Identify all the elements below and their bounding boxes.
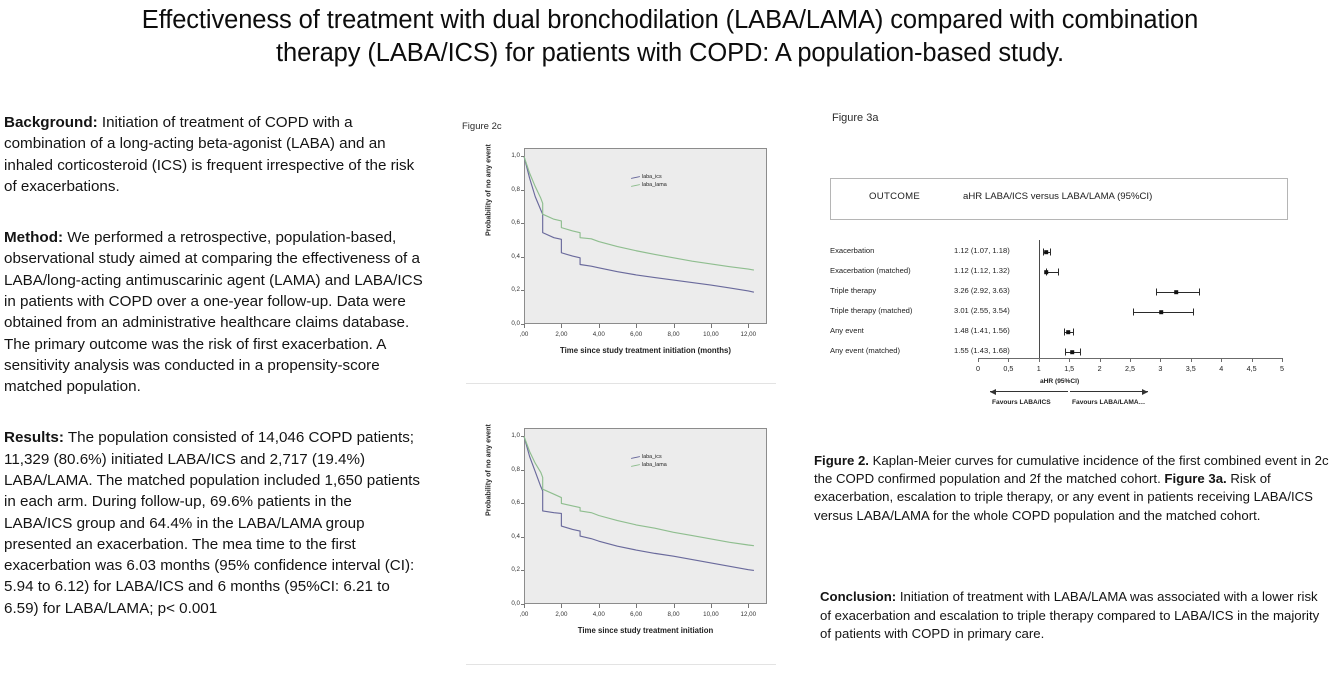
confidence-interval-cap (1080, 349, 1081, 356)
y-tick-mark (521, 190, 524, 191)
confidence-interval-cap (1050, 249, 1051, 256)
forest-row-label: Any event (matched) (830, 346, 950, 355)
forest-favours-left-label: Favours LABA/ICS (992, 399, 1051, 406)
forest-axis-tick-mark (1221, 358, 1222, 362)
forest-axis-tick-label: 1 (1037, 364, 1041, 373)
legend-2f: laba_icslaba_lama (631, 453, 667, 469)
forest-point-estimate-marker (1044, 270, 1048, 274)
forest-axis-tick-label: 4,5 (1247, 364, 1257, 373)
x-tick-mark (561, 604, 562, 608)
x-tick-mark (748, 604, 749, 608)
kaplan-meier-chart-2c: Probability of no any event Time since s… (470, 140, 775, 372)
forest-axis-tick-mark (1252, 358, 1253, 362)
y-tick-mark (521, 156, 524, 157)
method-heading: Method: (4, 229, 63, 246)
figure-2c-label: Figure 2c (462, 121, 502, 132)
x-tick-mark (674, 604, 675, 608)
x-tick-mark (711, 324, 712, 328)
forest-axis-tick-label: 2,5 (1125, 364, 1135, 373)
x-tick-mark (599, 604, 600, 608)
x-tick-mark (636, 604, 637, 608)
forest-axis-tick-mark (1160, 358, 1161, 362)
x-tick-label: 2,00 (555, 611, 567, 618)
background-block: Background: Initiation of treatment of C… (4, 112, 424, 197)
confidence-interval-line (1133, 312, 1193, 313)
x-tick-label: ,00 (520, 331, 529, 338)
results-text: The population consisted of 14,046 COPD … (4, 429, 420, 616)
forest-favours-right-label: Favours LABA/LAMA… (1072, 399, 1145, 406)
x-tick-mark (636, 324, 637, 328)
confidence-interval-cap (1133, 309, 1134, 316)
confidence-interval-cap (1058, 269, 1059, 276)
y-tick-label: 0,0 (502, 600, 520, 607)
forest-point-estimate-marker (1174, 290, 1178, 294)
legend-swatch-icon (631, 463, 640, 467)
confidence-interval-line (1046, 272, 1058, 273)
x-tick-mark (524, 604, 525, 608)
forest-row-label: Exacerbation (830, 246, 950, 255)
results-heading: Results: (4, 429, 64, 446)
x-axis-label-2c: Time since study treatment initiation (m… (524, 346, 767, 355)
forest-axis-tick-mark (1100, 358, 1101, 362)
left-text-column: Background: Initiation of treatment of C… (4, 112, 424, 649)
x-axis-label-2f: Time since study treatment initiation (524, 626, 767, 635)
forest-point-estimate-marker (1159, 310, 1163, 314)
background-heading: Background: (4, 114, 98, 131)
forest-col-header-value: aHR LABA/ICS versus LABA/LAMA (95%CI) (963, 191, 1152, 202)
forest-reference-line (1039, 240, 1040, 358)
forest-point-estimate-marker (1066, 330, 1070, 334)
legend-2c: laba_icslaba_lama (631, 173, 667, 189)
x-tick-label: 12,00 (741, 611, 756, 618)
y-tick-mark (521, 257, 524, 258)
x-tick-label: 2,00 (555, 331, 567, 338)
x-tick-label: 8,00 (668, 611, 680, 618)
y-tick-label: 1,0 (502, 152, 520, 159)
y-tick-mark (521, 570, 524, 571)
forest-axis-tick-label: 0 (976, 364, 980, 373)
forest-axis-tick-mark (1008, 358, 1009, 362)
y-tick-label: 0,4 (502, 533, 520, 540)
y-tick-mark (521, 290, 524, 291)
forest-row-label: Triple therapy (830, 286, 950, 295)
forest-axis-tick-mark (1130, 358, 1131, 362)
confidence-interval-cap (1199, 289, 1200, 296)
legend-item: laba_ics (631, 173, 667, 181)
figure-caption: Figure 2. Kaplan-Meier curves for cumula… (814, 452, 1333, 525)
confidence-interval-cap (1073, 329, 1074, 336)
legend-swatch-icon (631, 455, 640, 459)
forest-axis-tick-label: 3 (1158, 364, 1162, 373)
forest-col-header-outcome: OUTCOME (869, 191, 920, 202)
y-tick-label: 0,2 (502, 566, 520, 573)
forest-point-estimate-marker (1044, 250, 1048, 254)
y-tick-label: 0,2 (502, 286, 520, 293)
conclusion-heading: Conclusion: (820, 589, 896, 604)
forest-row-label: Any event (830, 326, 950, 335)
forest-axis-tick-label: 0,5 (1003, 364, 1013, 373)
method-block: Method: We performed a retrospective, po… (4, 227, 424, 397)
arrow-left-icon (990, 391, 1068, 392)
forest-axis-tick-label: 2 (1098, 364, 1102, 373)
y-tick-label: 0,8 (502, 186, 520, 193)
x-tick-mark (711, 604, 712, 608)
forest-axis-tick-mark (1191, 358, 1192, 362)
x-tick-mark (561, 324, 562, 328)
forest-point-estimate-marker (1070, 350, 1074, 354)
y-tick-mark (521, 537, 524, 538)
forest-row-label: Triple therapy (matched) (830, 306, 950, 315)
forest-axis-tick-mark (978, 358, 979, 362)
forest-axis-tick-label: 5 (1280, 364, 1284, 373)
y-tick-label: 1,0 (502, 432, 520, 439)
caption-fig2-bold: Figure 2. (814, 453, 869, 468)
page-title: Effectiveness of treatment with dual bro… (140, 4, 1200, 69)
legend-item: laba_ics (631, 453, 667, 461)
forest-plot-figure-3a: OUTCOME aHR LABA/ICS versus LABA/LAMA (9… (818, 108, 1330, 408)
forest-axis-tick-label: 1,5 (1064, 364, 1074, 373)
forest-axis: 00,511,522,533,544,55 (978, 240, 1288, 370)
divider-2 (466, 664, 776, 665)
legend-swatch-icon (631, 183, 640, 187)
y-tick-mark (521, 436, 524, 437)
legend-label: laba_ics (642, 173, 662, 181)
forest-header-box: OUTCOME aHR LABA/ICS versus LABA/LAMA (9… (830, 178, 1288, 220)
forest-axis-tick-mark (1282, 358, 1283, 362)
y-tick-mark (521, 503, 524, 504)
divider-1 (466, 383, 776, 384)
x-tick-mark (748, 324, 749, 328)
conclusion-block: Conclusion: Initiation of treatment with… (820, 588, 1328, 644)
forest-axis-tick-label: 4 (1219, 364, 1223, 373)
x-tick-label: 4,00 (593, 331, 605, 338)
x-tick-label: 4,00 (593, 611, 605, 618)
legend-label: laba_ics (642, 453, 662, 461)
caption-fig3a-bold: Figure 3a. (1164, 471, 1226, 486)
forest-axis-tick-label: 3,5 (1186, 364, 1196, 373)
x-tick-label: ,00 (520, 611, 529, 618)
x-tick-label: 12,00 (741, 331, 756, 338)
confidence-interval-cap (1065, 349, 1066, 356)
y-tick-mark (521, 223, 524, 224)
kaplan-meier-chart-2f: Probability of no any event Time since s… (470, 420, 775, 652)
x-tick-mark (524, 324, 525, 328)
y-tick-label: 0,0 (502, 320, 520, 327)
legend-label: laba_lama (642, 461, 667, 469)
arrow-right-icon (1070, 391, 1148, 392)
x-tick-label: 6,00 (630, 331, 642, 338)
x-tick-label: 8,00 (668, 331, 680, 338)
x-tick-label: 6,00 (630, 611, 642, 618)
forest-x-axis-label: aHR (95%CI) (1040, 378, 1079, 385)
y-tick-label: 0,4 (502, 253, 520, 260)
y-tick-mark (521, 470, 524, 471)
confidence-interval-cap (1193, 309, 1194, 316)
confidence-interval-cap (1156, 289, 1157, 296)
x-tick-label: 10,00 (703, 331, 718, 338)
x-tick-label: 10,00 (703, 611, 718, 618)
legend-item: laba_lama (631, 181, 667, 189)
confidence-interval-cap (1064, 329, 1065, 336)
x-tick-mark (674, 324, 675, 328)
legend-item: laba_lama (631, 461, 667, 469)
method-text: We performed a retrospective, population… (4, 229, 423, 395)
forest-row-label: Exacerbation (matched) (830, 266, 950, 275)
legend-swatch-icon (631, 175, 640, 179)
x-tick-mark (599, 324, 600, 328)
legend-label: laba_lama (642, 181, 667, 189)
results-block: Results: The population consisted of 14,… (4, 427, 424, 619)
y-tick-label: 0,8 (502, 466, 520, 473)
forest-axis-tick-mark (1039, 358, 1040, 362)
forest-axis-tick-mark (1069, 358, 1070, 362)
y-tick-label: 0,6 (502, 499, 520, 506)
y-tick-label: 0,6 (502, 219, 520, 226)
